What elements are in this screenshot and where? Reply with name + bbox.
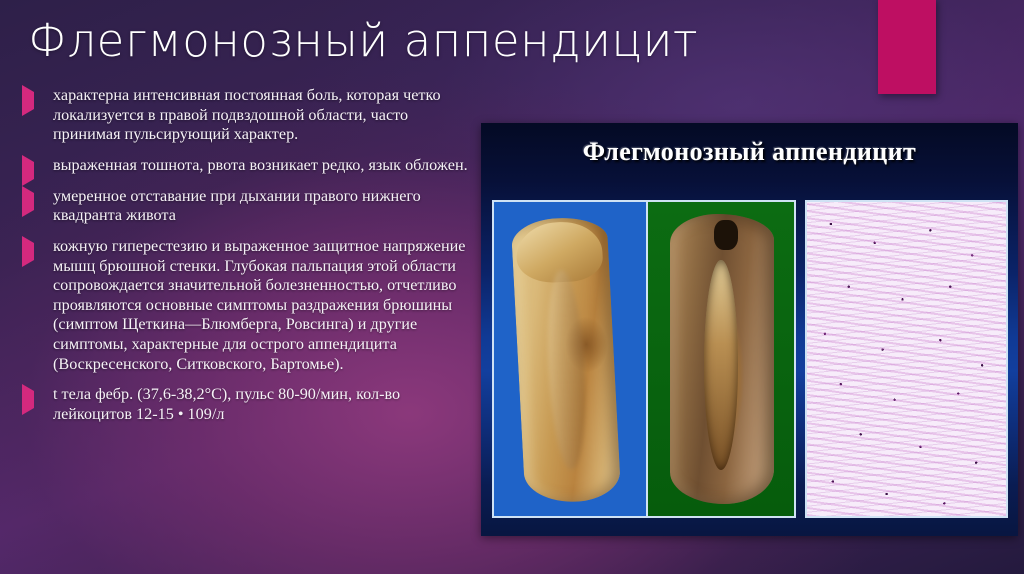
photo-cross-section [646,200,796,518]
bullet-triangle-icon [22,391,35,405]
embedded-picture-panel: Флегмонозный аппендицит [481,123,1018,536]
accent-block [878,0,936,94]
list-item: кожную гиперестезию и выраженное защитно… [16,237,468,374]
list-item: характерна интенсивная постоянная боль, … [16,86,468,145]
list-item-text: t тела фебр. (37,6-38,2°C), пульс 80-90/… [53,385,468,424]
bullet-triangle-icon [22,92,35,106]
bullet-list: характерна интенсивная постоянная боль, … [16,86,468,435]
bullet-triangle-icon [22,243,35,257]
appendix-cross-section-shape [670,214,774,504]
list-item-text: выраженная тошнота, рвота возникает редк… [53,156,468,176]
list-item: выраженная тошнота, рвота возникает редк… [16,156,468,176]
list-item-text: умеренное отставание при дыхании правого… [53,187,468,226]
list-item-text: кожную гиперестезию и выраженное защитно… [53,237,468,374]
bullet-triangle-icon [22,162,35,176]
bullet-triangle-icon [22,193,35,207]
photo-histology [805,200,1008,518]
appendix-specimen-shape [511,216,622,505]
photo-gross-specimen [492,200,652,518]
picture-panel-title: Флегмонозный аппендицит [481,137,1018,167]
presentation-slide: Флегмонозный аппендицит характерна интен… [0,0,1024,574]
list-item-text: характерна интенсивная постоянная боль, … [53,86,468,145]
histology-field-texture [807,202,1006,516]
list-item: умеренное отставание при дыхании правого… [16,187,468,226]
page-title: Флегмонозный аппендицит [28,14,698,67]
list-item: t тела фебр. (37,6-38,2°C), пульс 80-90/… [16,385,468,424]
